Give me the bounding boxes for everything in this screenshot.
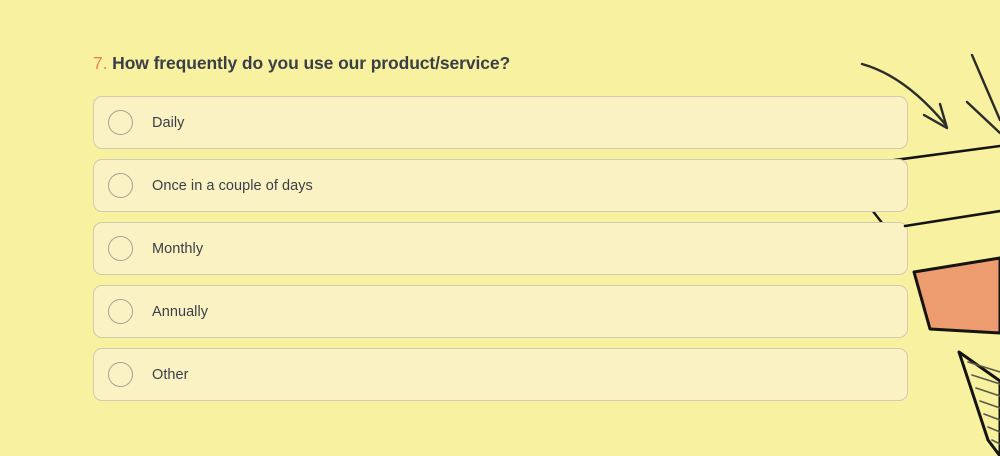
radio-unchecked-icon[interactable] <box>108 110 133 135</box>
radio-unchecked-icon[interactable] <box>108 362 133 387</box>
option-label: Monthly <box>152 241 203 257</box>
long-diagonal-line-front <box>905 211 1000 226</box>
question-heading: 7. How frequently do you use our product… <box>93 52 908 74</box>
option-monthly[interactable]: Monthly <box>93 222 908 275</box>
survey-question-block: 7. How frequently do you use our product… <box>93 52 908 401</box>
radio-unchecked-icon[interactable] <box>108 299 133 324</box>
option-daily[interactable]: Daily <box>93 96 908 149</box>
option-label: Once in a couple of days <box>152 178 313 194</box>
question-title: How frequently do you use our product/se… <box>112 53 510 73</box>
straight-arrow-down-right <box>972 55 1000 120</box>
radio-unchecked-icon[interactable] <box>108 173 133 198</box>
orange-quadrilateral <box>914 258 1000 333</box>
curved-arrow-head-icon <box>924 104 947 128</box>
option-other[interactable]: Other <box>93 348 908 401</box>
hatched-wedge-lines <box>968 362 1000 444</box>
radio-unchecked-icon[interactable] <box>108 236 133 261</box>
option-label: Other <box>152 367 189 383</box>
options-list: Daily Once in a couple of days Monthly A… <box>93 96 908 401</box>
option-annually[interactable]: Annually <box>93 285 908 338</box>
straight-arrow-head-icon <box>967 102 1000 133</box>
option-label: Annually <box>152 304 208 320</box>
question-number: 7. <box>93 53 107 73</box>
hatched-wedge-outline <box>959 352 1000 456</box>
option-label: Daily <box>152 115 184 131</box>
option-once-in-a-couple-of-days[interactable]: Once in a couple of days <box>93 159 908 212</box>
